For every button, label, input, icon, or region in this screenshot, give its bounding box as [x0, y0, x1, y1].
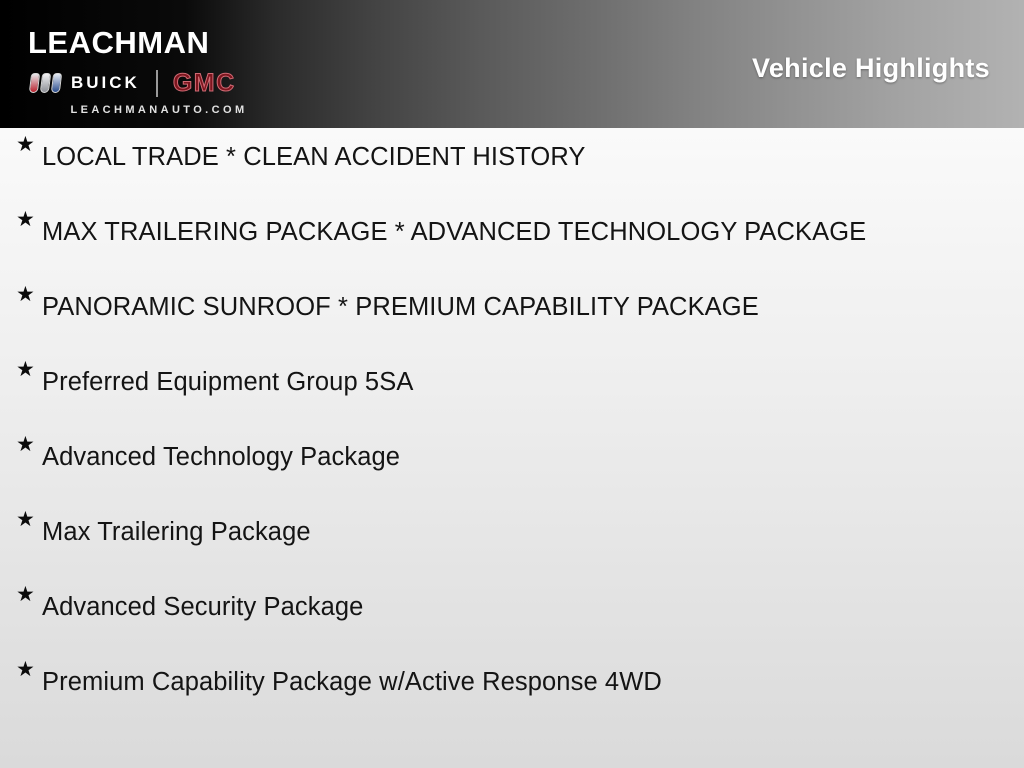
- highlight-text: LOCAL TRADE * CLEAN ACCIDENT HISTORY: [42, 128, 998, 175]
- dealer-website-url: LEACHMANAUTO.COM: [30, 104, 288, 116]
- list-item: ★PANORAMIC SUNROOF * PREMIUM CAPABILITY …: [0, 278, 1024, 353]
- highlight-text: Advanced Security Package: [42, 578, 998, 625]
- buick-label: BUICK: [71, 73, 140, 93]
- star-bullet-icon: ★: [16, 428, 42, 461]
- star-bullet-icon: ★: [16, 203, 42, 236]
- list-item: ★LOCAL TRADE * CLEAN ACCIDENT HISTORY: [0, 128, 1024, 203]
- list-item: ★Advanced Security Package: [0, 578, 1024, 653]
- page-title: Vehicle Highlights: [752, 52, 990, 84]
- star-bullet-icon: ★: [16, 353, 42, 386]
- list-item: ★Advanced Technology Package: [0, 428, 1024, 503]
- highlight-text: Preferred Equipment Group 5SA: [42, 353, 998, 400]
- page-header: LEACHMAN BUICK GMC LEACHMANAUTO.COM Vehi…: [0, 0, 1024, 128]
- star-bullet-icon: ★: [16, 578, 42, 611]
- star-bullet-icon: ★: [16, 503, 42, 536]
- vehicle-highlights-page: LEACHMAN BUICK GMC LEACHMANAUTO.COM Vehi…: [0, 0, 1024, 768]
- list-item: ★Max Trailering Package: [0, 503, 1024, 578]
- highlight-text: Advanced Technology Package: [42, 428, 998, 475]
- dealer-logo: LEACHMAN BUICK GMC LEACHMANAUTO.COM: [22, 8, 292, 122]
- brand-divider: [156, 70, 158, 97]
- highlight-text: Premium Capability Package w/Active Resp…: [42, 653, 998, 700]
- highlight-text: PANORAMIC SUNROOF * PREMIUM CAPABILITY P…: [42, 278, 998, 325]
- star-bullet-icon: ★: [16, 128, 42, 161]
- vehicle-highlights-list: ★LOCAL TRADE * CLEAN ACCIDENT HISTORY★MA…: [0, 128, 1024, 728]
- buick-trishield-icon: [29, 73, 65, 93]
- list-item: ★MAX TRAILERING PACKAGE * ADVANCED TECHN…: [0, 203, 1024, 278]
- gmc-label: GMC: [173, 69, 236, 98]
- highlight-text: Max Trailering Package: [42, 503, 998, 550]
- brand-row: BUICK GMC: [30, 68, 288, 98]
- dealer-wordmark: LEACHMAN: [28, 17, 290, 61]
- highlight-text: MAX TRAILERING PACKAGE * ADVANCED TECHNO…: [42, 203, 998, 250]
- star-bullet-icon: ★: [16, 278, 42, 311]
- list-item: ★Premium Capability Package w/Active Res…: [0, 653, 1024, 728]
- list-item: ★Preferred Equipment Group 5SA: [0, 353, 1024, 428]
- star-bullet-icon: ★: [16, 653, 42, 686]
